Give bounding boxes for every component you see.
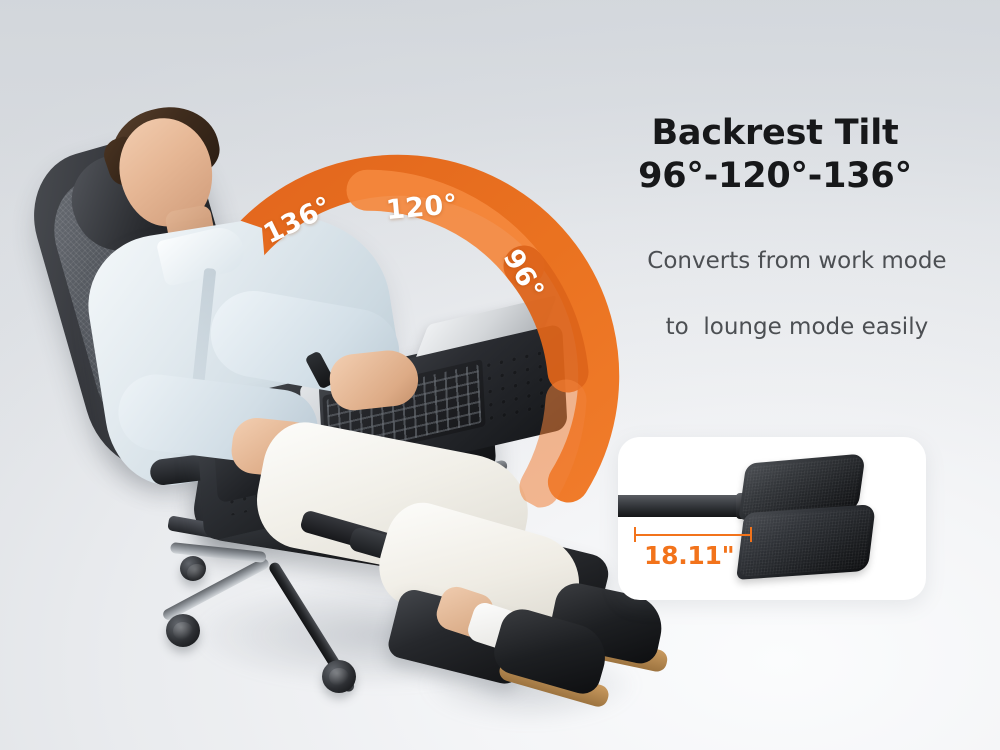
arc-label-120: 120° [385,189,459,226]
footrest-pad-lower [736,504,876,580]
subtitle: Converts from work mode to lounge mode e… [580,213,970,376]
footrest-detail-card: 18.11" [618,437,926,600]
headline-line-1: Backrest Tilt [651,113,898,153]
subtitle-line-1: Converts from work mode [647,248,946,274]
subtitle-line-2: to lounge mode easily [666,314,929,340]
footrest-pad-texture [739,507,872,576]
dimension-value: 18.11" [644,541,734,570]
product-feature-banner: 136° 120° 96° Backrest Tilt 96°-120°-136… [0,0,1000,750]
dimension-tick-right [750,527,752,542]
headline: Backrest Tilt 96°-120°-136° [580,112,970,199]
marketing-copy: Backrest Tilt 96°-120°-136° Converts fro… [580,112,970,376]
headline-line-2: 96°-120°-136° [580,155,970,198]
arc-segment-lower-highlight [540,400,566,487]
dimension-line [634,534,752,536]
dimension-tick-left [634,527,636,542]
